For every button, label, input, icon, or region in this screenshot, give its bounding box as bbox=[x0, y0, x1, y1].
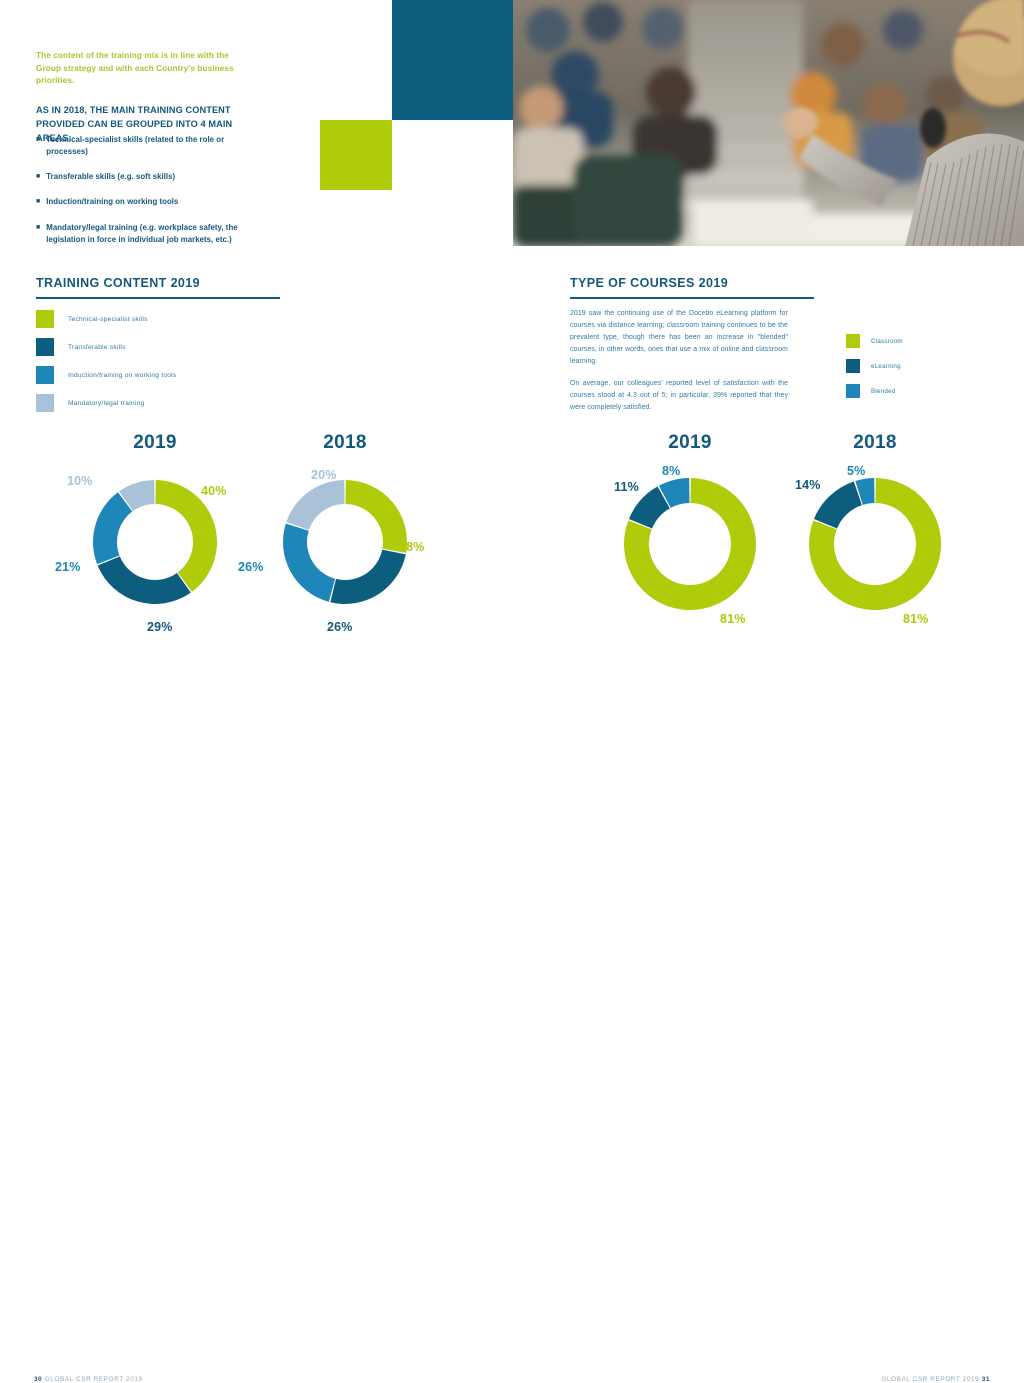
legend-swatch-icon bbox=[846, 334, 860, 348]
legend-swatch-icon bbox=[36, 310, 54, 328]
donut-slice bbox=[98, 556, 191, 604]
bullet-dot-icon: ■ bbox=[36, 222, 40, 246]
page-footer: 30 GLOBAL CSR REPORT 2019 GLOBAL CSR REP… bbox=[0, 684, 1024, 724]
decorative-green-block bbox=[320, 120, 392, 190]
list-item-label: Mandatory/legal training (e.g. workplace… bbox=[46, 222, 248, 246]
slice-label-1: 11% bbox=[614, 480, 639, 494]
page-number-right: 31 bbox=[982, 1376, 990, 1383]
section-divider bbox=[36, 297, 280, 299]
list-item: ■ Transferable skills (e.g. soft skills) bbox=[36, 171, 248, 183]
legend-item: Induction/training on working tools bbox=[36, 366, 176, 384]
slice-label-3: 20% bbox=[311, 468, 337, 482]
slice-label-1: 26% bbox=[327, 620, 353, 634]
legend-item: Technical-specialist skills bbox=[36, 310, 176, 328]
type-of-courses-legend: Classroom eLearning Blended bbox=[846, 334, 903, 409]
slice-label-1: 14% bbox=[795, 478, 821, 492]
legend-item-label: Mandatory/legal training bbox=[68, 400, 144, 407]
legend-item: Mandatory/legal training bbox=[36, 394, 176, 412]
slice-label-2: 21% bbox=[55, 560, 81, 574]
legend-swatch-icon bbox=[846, 359, 860, 373]
legend-swatch-icon bbox=[846, 384, 860, 398]
training-content-section-header: TRAINING CONTENT 2019 bbox=[36, 276, 280, 299]
chart-training-content-2018: 2018 28% 26% 26% 20% bbox=[245, 432, 445, 642]
slice-label-0: 81% bbox=[720, 612, 746, 626]
paragraph: On average, our colleagues' reported lev… bbox=[570, 378, 788, 414]
report-page: The content of the training mix is in li… bbox=[0, 0, 1024, 724]
training-content-legend: Technical-specialist skills Transferable… bbox=[36, 310, 176, 422]
section-title: TRAINING CONTENT 2019 bbox=[36, 276, 280, 290]
legend-swatch-icon bbox=[36, 366, 54, 384]
bullet-dot-icon: ■ bbox=[36, 171, 40, 183]
chart-type-of-courses-2018: 2018 81% 14% 5% bbox=[785, 432, 965, 642]
training-areas-list: ■ Technical-specialist skills (related t… bbox=[36, 134, 248, 259]
slice-label-2: 26% bbox=[238, 560, 264, 574]
footer-left: 30 GLOBAL CSR REPORT 2019 bbox=[34, 1376, 143, 1383]
section-title: TYPE OF COURSES 2019 bbox=[570, 276, 814, 290]
legend-item-label: Blended bbox=[871, 388, 895, 395]
slice-label-0: 81% bbox=[903, 612, 929, 626]
intro-lead: The content of the training mix is in li… bbox=[36, 50, 246, 88]
slice-label-1: 29% bbox=[147, 620, 173, 634]
legend-item: Transferable skills bbox=[36, 338, 176, 356]
donut-slice bbox=[286, 480, 344, 530]
footer-right: GLOBAL CSR REPORT 2019 31 bbox=[881, 1376, 990, 1383]
list-item: ■ Technical-specialist skills (related t… bbox=[36, 134, 248, 158]
donut-slice bbox=[345, 480, 407, 553]
slice-label-3: 10% bbox=[67, 474, 93, 488]
auditorium-photo bbox=[513, 0, 1024, 246]
section-divider bbox=[570, 297, 814, 299]
list-item-label: Transferable skills (e.g. soft skills) bbox=[46, 171, 248, 183]
decorative-blue-block bbox=[392, 0, 513, 120]
type-of-courses-section-header: TYPE OF COURSES 2019 bbox=[570, 276, 814, 299]
donut-slice bbox=[283, 524, 335, 602]
type-of-courses-body: 2019 saw the continuing use of the Doceb… bbox=[570, 308, 788, 425]
legend-item-label: Transferable skills bbox=[68, 344, 126, 351]
footer-right-label: GLOBAL CSR REPORT 2019 bbox=[881, 1376, 979, 1383]
slice-label-0: 28% bbox=[399, 540, 425, 554]
page-number-left: 30 bbox=[34, 1376, 42, 1383]
legend-item-label: Classroom bbox=[871, 338, 903, 345]
footer-left-label: GLOBAL CSR REPORT 2019 bbox=[45, 1376, 143, 1383]
legend-item-label: Induction/training on working tools bbox=[68, 372, 176, 379]
slice-label-2: 8% bbox=[662, 464, 680, 478]
bullet-dot-icon: ■ bbox=[36, 196, 40, 208]
chart-type-of-courses-2019: 2019 81% 11% 8% bbox=[600, 432, 780, 642]
legend-item-label: eLearning bbox=[871, 363, 901, 370]
legend-swatch-icon bbox=[36, 394, 54, 412]
legend-item: Classroom bbox=[846, 334, 903, 348]
list-item-label: Technical-specialist skills (related to … bbox=[46, 134, 248, 158]
chart-title: 2019 bbox=[600, 432, 780, 454]
list-item-label: Induction/training on working tools bbox=[46, 196, 248, 208]
slice-label-0: 40% bbox=[201, 484, 227, 498]
bullet-dot-icon: ■ bbox=[36, 134, 40, 158]
chart-title: 2018 bbox=[245, 432, 445, 454]
donut-slice bbox=[93, 492, 132, 564]
list-item: ■ Mandatory/legal training (e.g. workpla… bbox=[36, 222, 248, 246]
donut-slice bbox=[330, 550, 405, 604]
list-item: ■ Induction/training on working tools bbox=[36, 196, 248, 208]
slice-label-2: 5% bbox=[847, 464, 865, 478]
chart-title: 2018 bbox=[785, 432, 965, 454]
legend-item-label: Technical-specialist skills bbox=[68, 316, 148, 323]
donut-slice bbox=[814, 481, 862, 528]
legend-item: Blended bbox=[846, 384, 903, 398]
chart-title: 2019 bbox=[55, 432, 255, 454]
legend-swatch-icon bbox=[36, 338, 54, 356]
paragraph: 2019 saw the continuing use of the Doceb… bbox=[570, 308, 788, 367]
chart-training-content-2019: 2019 40% 29% 21% 10% bbox=[55, 432, 255, 642]
legend-item: eLearning bbox=[846, 359, 903, 373]
